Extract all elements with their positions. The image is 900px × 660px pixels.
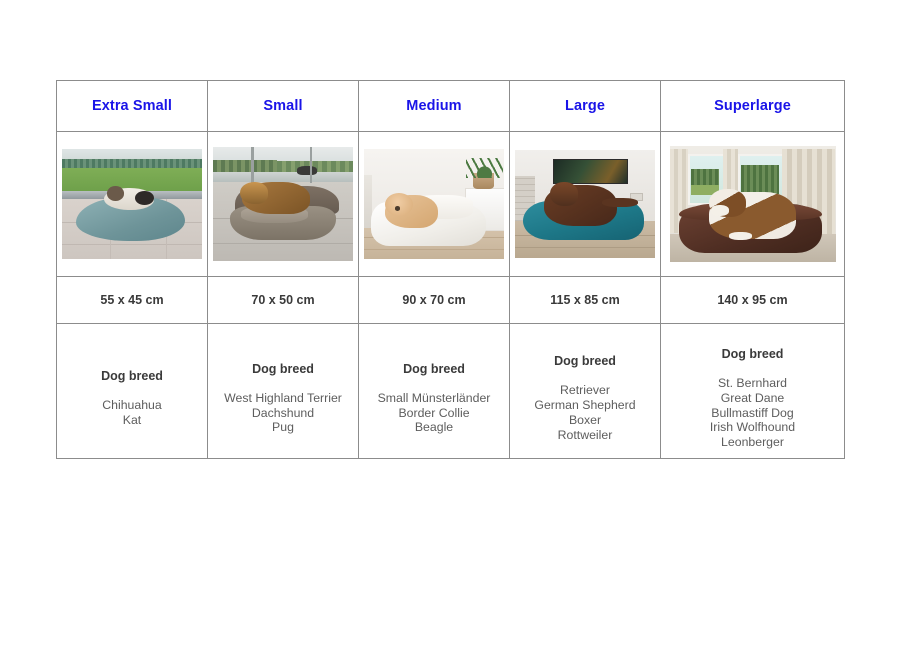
breed-cell-superlarge: Dog breed St. Bernhard Great Dane Bullma… [661,324,845,459]
breed-block: Dog breed West Highland Terrier Dachshun… [208,347,358,435]
large-dog-bed-photo [515,150,655,258]
breed-item: Leonberger [667,435,838,450]
outdoor-furniture [297,166,317,175]
breed-list-small: West Highland Terrier Dachshund Pug [214,391,352,435]
tile-line [62,244,202,245]
dimensions-large: 115 x 85 cm [510,277,660,323]
dimensions-medium: 90 x 70 cm [359,277,509,323]
dog-bed-size-table: Extra Small Small Medium Large Superlarg… [56,80,845,459]
breed-item: Small Münsterländer [365,391,503,406]
photo-cell-extra-small [57,132,208,277]
dog-paw [729,232,752,240]
small-dog-bed-photo [213,147,353,261]
photo-frame-small [208,132,358,276]
breed-item: Great Dane [667,391,838,406]
photo-cell-large [510,132,661,277]
photo-frame-large [510,132,660,276]
dimensions-cell-medium: 90 x 70 cm [359,277,510,324]
photo-frame-extra-small [57,132,207,276]
breed-item: Boxer [516,413,654,428]
breed-item: Rottweiler [516,428,654,443]
breed-title-extra-small: Dog breed [63,369,201,383]
dog-snout [711,205,729,215]
dimensions-cell-extra-small: 55 x 45 cm [57,277,208,324]
breed-list-medium: Small Münsterländer Border Collie Beagle [365,391,503,435]
dimensions-cell-large: 115 x 85 cm [510,277,661,324]
tile-line [213,243,353,244]
dog-head [240,182,268,204]
breed-item: Retriever [516,383,654,398]
photo-cell-superlarge [661,132,845,277]
dimensions-superlarge: 140 x 95 cm [661,277,844,323]
breed-title-large: Dog breed [516,354,654,368]
dimensions-cell-small: 70 x 50 cm [208,277,359,324]
window-mullion [251,147,254,183]
breed-cell-large: Dog breed Retriever German Shepherd Boxe… [510,324,661,459]
dimensions-cell-superlarge: 140 x 95 cm [661,277,845,324]
floorboard-line [515,247,655,248]
table-photo-row [57,132,845,277]
medium-dog-bed-photo [364,149,504,259]
table-breed-row: Dog breed Chihuahua Kat Dog breed West H… [57,324,845,459]
size-name-medium: Medium [359,81,509,131]
breed-list-extra-small: Chihuahua Kat [63,398,201,428]
breed-cell-small: Dog breed West Highland Terrier Dachshun… [208,324,359,459]
table-header-row: Extra Small Small Medium Large Superlarg… [57,81,845,132]
breed-block: Dog breed Chihuahua Kat [57,354,207,428]
dog-head [550,182,578,206]
floorboard-line [364,249,504,250]
breed-item: Border Collie [365,406,503,421]
size-name-small: Small [208,81,358,131]
breed-list-superlarge: St. Bernhard Great Dane Bullmastiff Dog … [667,376,838,450]
breed-cell-medium: Dog breed Small Münsterländer Border Col… [359,324,510,459]
dimensions-small: 70 x 50 cm [208,277,358,323]
header-cell-large: Large [510,81,661,132]
breed-item: Beagle [365,420,503,435]
extra-small-dog-bed-photo [62,149,202,259]
breed-title-medium: Dog breed [365,362,503,376]
breed-list-large: Retriever German Shepherd Boxer Rottweil… [516,383,654,442]
breed-cell-extra-small: Dog breed Chihuahua Kat [57,324,208,459]
breed-item: Bullmastiff Dog [667,406,838,421]
breed-item: German Shepherd [516,398,654,413]
header-cell-small: Small [208,81,359,132]
plant-foliage [466,158,502,178]
size-name-superlarge: Superlarge [661,81,844,131]
breed-item: West Highland Terrier [214,391,352,406]
hedge-region [741,165,779,194]
table-dimensions-row: 55 x 45 cm 70 x 50 cm 90 x 70 cm 115 x 8… [57,277,845,324]
size-name-large: Large [510,81,660,131]
dog-nose [395,206,401,210]
photo-frame-superlarge [661,132,844,276]
breed-block: Dog breed Small Münsterländer Border Col… [359,347,509,435]
header-cell-extra-small: Extra Small [57,81,208,132]
size-name-extra-small: Extra Small [57,81,207,131]
breed-title-superlarge: Dog breed [667,347,838,361]
breed-item: Irish Wolfhound [667,420,838,435]
dimensions-extra-small: 55 x 45 cm [57,277,207,323]
photo-cell-small [208,132,359,277]
header-cell-superlarge: Superlarge [661,81,845,132]
breed-item: Dachshund [214,406,352,421]
breed-block: Dog breed St. Bernhard Great Dane Bullma… [661,332,844,450]
breed-item: Chihuahua [63,398,201,413]
page-canvas: Extra Small Small Medium Large Superlarg… [0,0,900,660]
breed-item: St. Bernhard [667,376,838,391]
breed-block: Dog breed Retriever German Shepherd Boxe… [510,339,660,442]
header-cell-medium: Medium [359,81,510,132]
dog-head [107,186,124,200]
breed-title-small: Dog breed [214,362,352,376]
framed-artwork [553,159,628,185]
superlarge-dog-bed-photo [670,146,836,262]
photo-cell-medium [359,132,510,277]
dog-tail [602,198,638,208]
window-mullion [310,147,313,183]
breed-item: Pug [214,420,352,435]
dog-head [385,193,413,216]
photo-frame-medium [359,132,509,276]
breed-item: Kat [63,413,201,428]
